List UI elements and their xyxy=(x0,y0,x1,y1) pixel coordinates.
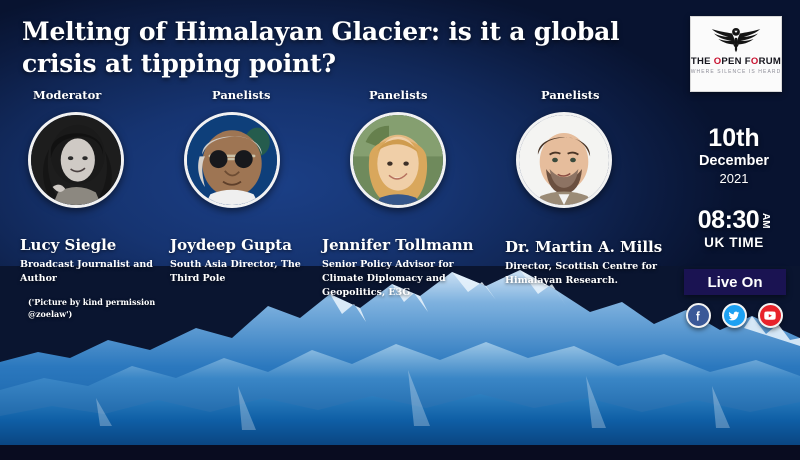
youtube-icon[interactable] xyxy=(758,303,783,328)
eagle-icon xyxy=(703,23,769,55)
event-month: December xyxy=(672,153,796,170)
portrait-joydeep-gupta xyxy=(184,112,280,208)
facebook-icon[interactable] xyxy=(686,303,711,328)
logo-wordmark: THE OPEN FORUM xyxy=(691,56,781,67)
role-label-moderator: Moderator xyxy=(33,88,101,102)
speaker-credit-0: ('Picture by kind permission @zoelaw') xyxy=(28,296,158,320)
speaker-name-3: Dr. Martin A. Mills xyxy=(505,238,662,256)
portrait-jennifer-tollmann xyxy=(350,112,446,208)
speaker-title-0: Broadcast Journalist and Author xyxy=(20,258,170,286)
event-day: 10th xyxy=(672,126,796,151)
role-label-panelist-1: Panelists xyxy=(212,88,270,102)
role-label-panelist-2: Panelists xyxy=(369,88,427,102)
live-on-button[interactable]: Live On xyxy=(684,269,786,295)
event-time: 08:30 AM UK TIME xyxy=(672,208,796,250)
portrait-martin-mills xyxy=(516,112,612,208)
speaker-title-1: South Asia Director, The Third Pole xyxy=(170,258,310,286)
role-label-panelist-3: Panelists xyxy=(541,88,599,102)
portrait-lucy-siegle xyxy=(28,112,124,208)
role-labels-row: Moderator Panelists Panelists Panelists xyxy=(0,88,676,104)
bottom-border-bar xyxy=(0,445,800,460)
open-forum-logo: THE OPEN FORUM WHERE SILENCE IS HEARD xyxy=(690,16,782,92)
speaker-name-1: Joydeep Gupta xyxy=(170,236,292,254)
speaker-title-3: Director, Scottish Centre for Himalayan … xyxy=(505,260,665,288)
twitter-icon[interactable] xyxy=(722,303,747,328)
portraits-row xyxy=(0,112,676,234)
event-poster: Melting of Himalayan Glacier: is it a gl… xyxy=(0,0,800,460)
logo-tagline: WHERE SILENCE IS HEARD xyxy=(691,69,782,75)
event-timezone: UK TIME xyxy=(672,235,796,250)
speaker-name-2: Jennifer Tollmann xyxy=(322,236,474,254)
event-time-meridiem: AM xyxy=(760,213,770,229)
event-time-value: 08:30 xyxy=(698,208,759,233)
speaker-title-2: Senior Policy Advisor for Climate Diplom… xyxy=(322,258,482,299)
speaker-name-0: Lucy Siegle xyxy=(20,236,116,254)
event-year: 2021 xyxy=(672,171,796,187)
social-links xyxy=(672,303,796,328)
page-title: Melting of Himalayan Glacier: is it a gl… xyxy=(22,16,622,81)
event-date: 10th December 2021 xyxy=(672,126,796,186)
